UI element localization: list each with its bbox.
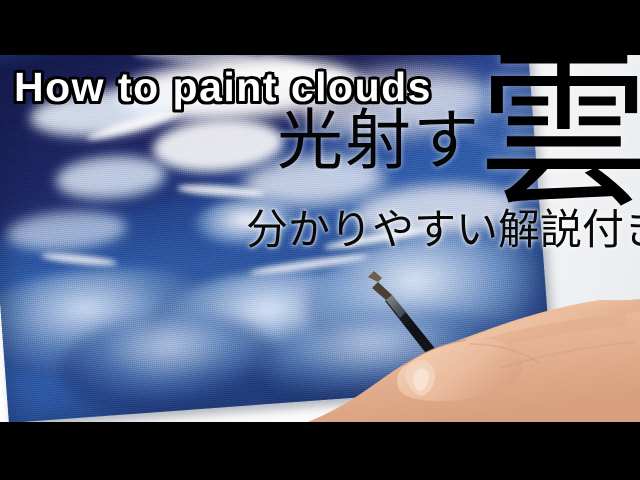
kanji-kumo: 雲 bbox=[478, 46, 640, 218]
title-japanese: 光射す bbox=[277, 108, 481, 174]
thumbnail-canvas: How to paint clouds 光射す 雲 分かりやすい解説付き bbox=[0, 0, 640, 480]
letterbox-bar-bottom bbox=[0, 422, 640, 480]
letterbox-bar-top bbox=[0, 0, 640, 55]
